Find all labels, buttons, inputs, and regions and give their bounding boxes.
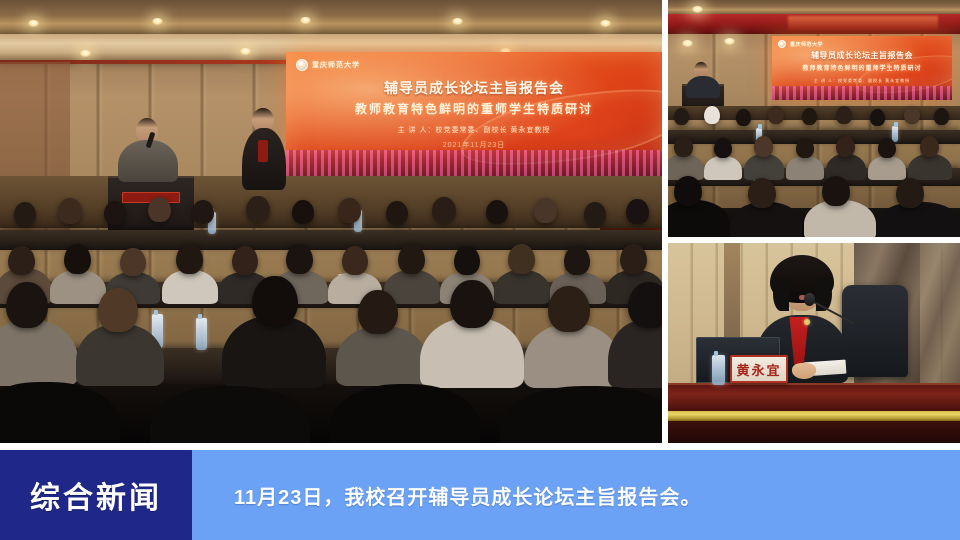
room-presenter-body [686, 76, 720, 98]
audience-head [714, 138, 732, 158]
room-screen-subtitle: 教师教育特色鲜明的重师学生特质研讨 [772, 63, 952, 72]
foreground-silhouette [876, 202, 960, 237]
audience-body [494, 270, 550, 304]
caption-bar: 综合新闻 11月23日，我校召开辅导员成长论坛主旨报告会。 [0, 450, 960, 540]
speaker-hand [792, 363, 816, 379]
ceiling-light-icon [240, 48, 251, 55]
ceiling-light-icon [28, 20, 39, 27]
room-desk-row [668, 130, 960, 144]
audience-head [836, 136, 855, 157]
audience-body [744, 154, 784, 180]
room-screen-university: 重庆师范大学 [790, 41, 823, 48]
nameplate: 黄永宜 [730, 355, 788, 383]
ceiling-light-icon [80, 50, 91, 57]
microphone-icon [804, 293, 815, 306]
room-ceiling [668, 0, 960, 14]
ceiling-light-icon [600, 20, 611, 27]
audience-head [796, 138, 814, 158]
screen-title: 辅导员成长论坛主旨报告会 [286, 78, 662, 98]
speaker-desk-trim [668, 411, 960, 421]
audience-head [286, 244, 313, 274]
stage-person-scarf [258, 140, 268, 162]
main-auditorium-photo: 重庆师范大学 辅导员成长论坛主旨报告会 教师教育特色鲜明的重师学生特质研讨 主 … [0, 0, 662, 443]
backdrop-divider [724, 243, 740, 343]
ceiling-light-icon [724, 38, 735, 45]
audience-head [534, 198, 557, 223]
university-emblem-icon [296, 59, 308, 71]
screen-date: 2021年11月23日 [286, 140, 662, 150]
speaker-hair-left [773, 277, 789, 311]
screen-university-name: 重庆师范大学 [312, 60, 360, 70]
audience-head [252, 276, 298, 326]
audience-head [192, 200, 214, 224]
speaker-lapel-pin [804, 319, 810, 325]
audience-head [508, 244, 535, 274]
category-badge: 综合新闻 [0, 450, 192, 540]
ceiling [0, 0, 662, 34]
speaker-closeup-photo: 黄永宜 [668, 243, 960, 443]
ceiling-light-icon [152, 18, 163, 25]
audience-body [162, 270, 218, 304]
chair-back [842, 285, 908, 377]
room-audience-area [668, 104, 960, 237]
audience-head [386, 201, 408, 225]
university-emblem-icon [778, 40, 786, 48]
audience-body [524, 324, 620, 388]
audience-head [920, 136, 939, 157]
audience-head [748, 178, 776, 208]
audience-head [338, 198, 361, 223]
caption-body: 11月23日，我校召开辅导员成长论坛主旨报告会。 [192, 450, 960, 540]
room-screen-speaker: 主 讲 人：校党委常委、副校长 黄永宜教授 [772, 78, 952, 84]
wide-room-photo: 重庆师范大学 辅导员成长论坛主旨报告会 教师教育特色鲜明的重师学生特质研讨 主 … [668, 0, 960, 237]
audience-head [768, 106, 784, 124]
room-screen-title: 辅导员成长论坛主旨报告会 [772, 50, 952, 61]
audience-body [336, 326, 428, 386]
speaker-desk-front [668, 421, 960, 443]
audience-head [454, 246, 480, 275]
audience-head [14, 202, 36, 226]
audience-area [0, 196, 662, 443]
audience-head [870, 109, 885, 126]
water-bottle [712, 355, 725, 385]
audience-body [0, 320, 78, 386]
audience-head [64, 244, 91, 274]
audience-body [868, 156, 906, 180]
room-led-screen: 重庆师范大学 辅导员成长论坛主旨报告会 教师教育特色鲜明的重师学生特质研讨 主 … [772, 36, 952, 100]
audience-body [786, 156, 824, 180]
audience-head [398, 244, 425, 274]
audience-head [674, 136, 693, 157]
audience-head [836, 106, 852, 124]
audience-head [548, 286, 590, 332]
audience-head [822, 176, 850, 206]
audience-head [704, 106, 720, 124]
audience-head [674, 108, 689, 125]
screen-university-logo: 重庆师范大学 [296, 59, 360, 71]
water-bottle [196, 318, 207, 350]
audience-head [98, 288, 138, 332]
ceiling-light-icon [452, 18, 463, 25]
audience-head [432, 197, 456, 223]
audience-body [222, 316, 326, 388]
screen-speaker-line: 主 讲 人：校党委常委、副校长 黄永宜教授 [286, 125, 662, 135]
nameplate-text: 黄永宜 [736, 360, 781, 379]
audience-body [608, 320, 662, 388]
foreground-silhouette [668, 200, 730, 237]
audience-head [934, 108, 949, 125]
audience-body [50, 270, 106, 304]
room-screen-logo: 重庆师范大学 [778, 40, 823, 48]
audience-body [908, 154, 952, 180]
audience-head [564, 246, 590, 275]
category-label: 综合新闻 [30, 473, 162, 517]
audience-head [176, 244, 203, 274]
audience-head [754, 136, 773, 157]
audience-head [148, 197, 171, 222]
audience-head [620, 244, 647, 274]
audience-body [704, 156, 742, 180]
audience-head [896, 178, 924, 208]
audience-head [6, 282, 48, 328]
caption-text: 11月23日，我校召开辅导员成长论坛主旨报告会。 [234, 481, 701, 510]
audience-body [420, 318, 524, 388]
audience-head [736, 109, 751, 126]
audience-head [802, 108, 817, 125]
audience-head [104, 201, 126, 225]
ceiling-light-icon [682, 40, 693, 47]
audience-head [358, 290, 398, 334]
audience-head [120, 248, 146, 276]
ceiling-light-icon [692, 6, 703, 13]
audience-head [486, 200, 508, 224]
audience-head [626, 199, 649, 224]
audience-head [904, 106, 920, 124]
stage-led-screen: 重庆师范大学 辅导员成长论坛主旨报告会 教师教育特色鲜明的重师学生特质研讨 主 … [286, 52, 662, 177]
marble-column [920, 243, 960, 388]
news-collage-page: 重庆师范大学 辅导员成长论坛主旨报告会 教师教育特色鲜明的重师学生特质研讨 主 … [0, 0, 960, 540]
audience-head [628, 282, 662, 328]
audience-head [450, 280, 494, 328]
audience-head [342, 246, 368, 275]
audience-body [76, 324, 164, 386]
screen-subtitle: 教师教育特色鲜明的重师学生特质研讨 [286, 100, 662, 117]
audience-head [246, 196, 270, 222]
audience-head [232, 246, 258, 275]
audience-head [58, 198, 82, 224]
audience-head [8, 246, 35, 275]
ceiling-light-icon [300, 17, 311, 24]
audience-head [292, 200, 314, 224]
room-upper-banner [788, 16, 938, 30]
audience-head [584, 202, 606, 226]
audience-head [878, 138, 896, 158]
audience-desk-row [0, 230, 662, 250]
audience-head [674, 176, 702, 206]
